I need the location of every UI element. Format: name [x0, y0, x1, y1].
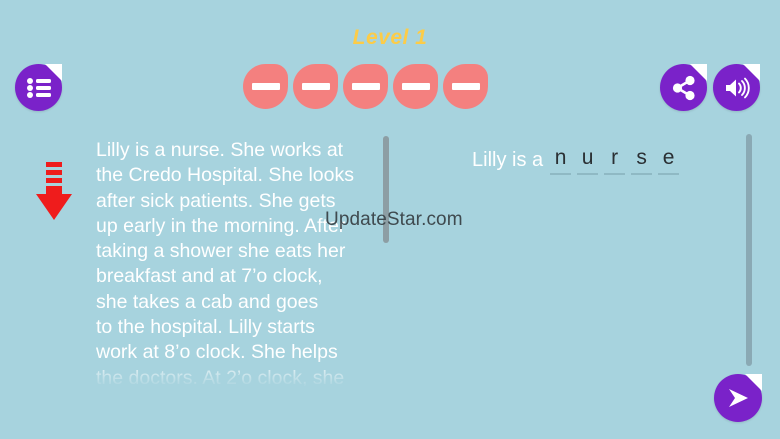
- answer-slot-2[interactable]: u: [576, 145, 599, 175]
- answer-blank-rule: [577, 173, 598, 175]
- watermark: UpdateStar.com: [325, 209, 463, 231]
- progress-badge-2[interactable]: [293, 64, 338, 109]
- game-screen: Level 1: [0, 0, 780, 439]
- down-arrow-icon: [32, 160, 76, 230]
- next-arrow-icon: [724, 385, 752, 411]
- answer-slot-1[interactable]: n: [549, 145, 572, 175]
- scroll-down-hint: [32, 160, 76, 230]
- answer-blank-rule: [631, 173, 652, 175]
- passage-text: Lilly is a nurse. She works at the Credo…: [96, 138, 386, 386]
- share-button[interactable]: [660, 64, 707, 111]
- answer-slot-3[interactable]: r: [603, 145, 626, 175]
- answer-letter: e: [663, 145, 675, 171]
- answer-prompt: Lilly is a: [472, 149, 543, 175]
- menu-button[interactable]: [15, 64, 62, 111]
- answer-blank-rule: [658, 173, 679, 175]
- badge-bar-icon: [452, 83, 480, 90]
- share-icon: [671, 75, 697, 101]
- sound-button[interactable]: [713, 64, 760, 111]
- answer-slots[interactable]: n u r s e: [549, 145, 680, 175]
- list-menu-icon: [26, 77, 52, 99]
- answer-letter: s: [636, 145, 647, 171]
- badge-bar-icon: [252, 83, 280, 90]
- page-title: Level 1: [0, 26, 780, 50]
- answer-letter: u: [582, 145, 594, 171]
- progress-badge-1[interactable]: [243, 64, 288, 109]
- progress-badge-3[interactable]: [343, 64, 388, 109]
- answer-slot-4[interactable]: s: [630, 145, 653, 175]
- badge-bar-icon: [352, 83, 380, 90]
- answer-blank-rule: [604, 173, 625, 175]
- passage-panel[interactable]: Lilly is a nurse. She works at the Credo…: [96, 138, 386, 386]
- answer-slot-5[interactable]: e: [657, 145, 680, 175]
- badge-bar-icon: [402, 83, 430, 90]
- next-button[interactable]: [714, 374, 762, 422]
- speaker-icon: [723, 76, 751, 100]
- answer-letter: n: [555, 145, 567, 171]
- answer-blank-rule: [550, 173, 571, 175]
- progress-badge-5[interactable]: [443, 64, 488, 109]
- page-scrollbar[interactable]: [746, 134, 752, 366]
- answer-letter: r: [611, 145, 618, 171]
- progress-badge-row: [243, 64, 488, 109]
- answer-area: Lilly is a n u r s e: [472, 145, 680, 175]
- badge-bar-icon: [302, 83, 330, 90]
- progress-badge-4[interactable]: [393, 64, 438, 109]
